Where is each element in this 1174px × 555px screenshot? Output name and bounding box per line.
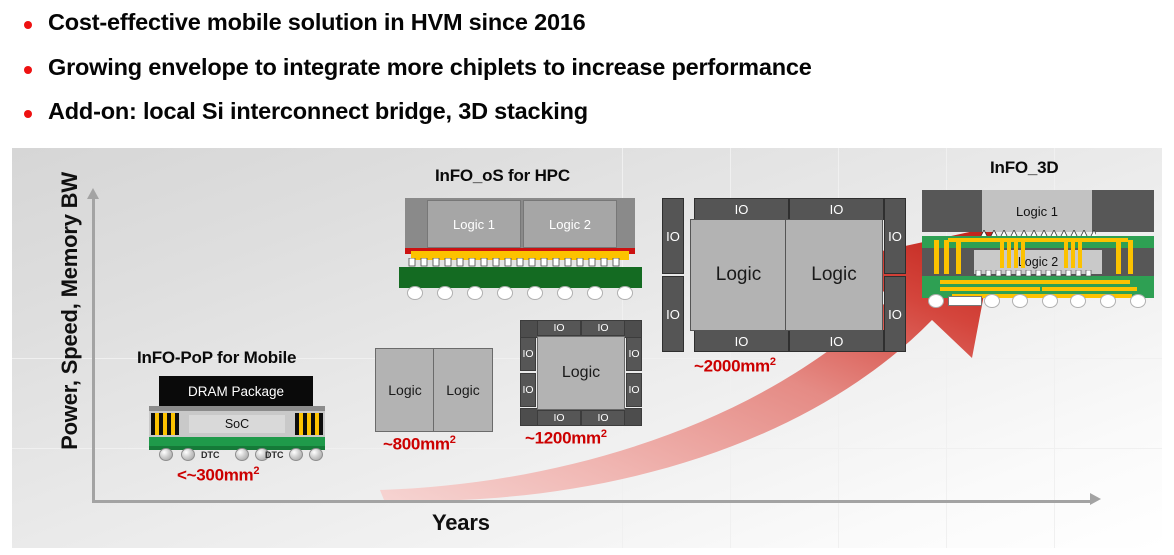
logic1-die: Logic 1	[982, 190, 1092, 232]
logic-die-right: Logic	[785, 219, 883, 331]
io-chiplet-left-top: IO	[520, 337, 536, 371]
tiv-bar	[155, 413, 159, 435]
bullet-item: Growing envelope to integrate more chipl…	[24, 55, 812, 80]
io-chiplet-right-bottom: IO	[626, 373, 642, 407]
solder-ball	[235, 448, 249, 461]
package-info-3d: InFO_3D Logic 1 Logic 2	[912, 158, 1162, 303]
mold-compound-right	[1092, 190, 1154, 232]
io-chiplet-top-left: IO	[537, 320, 581, 336]
io-chiplet-bottom-right: IO	[581, 410, 625, 426]
io-corner	[624, 320, 642, 338]
io-chiplet-top-right: IO	[789, 198, 884, 220]
tiv-bar	[299, 413, 303, 435]
solder-ball	[984, 294, 1000, 308]
via-bar	[1021, 240, 1025, 268]
solder-ball	[437, 286, 453, 300]
solder-ball	[309, 448, 323, 461]
rdl-trace	[948, 238, 1128, 242]
package-info-os: InFO_oS for HPC Logic 1 Logic 2	[397, 166, 642, 286]
solder-ball	[1070, 294, 1086, 308]
solder-ball	[1130, 294, 1146, 308]
solder-ball	[467, 286, 483, 300]
solder-ball	[181, 448, 195, 461]
solder-ball	[527, 286, 543, 300]
via-bar	[1064, 240, 1068, 268]
io-chiplet-bottom-left: IO	[537, 410, 581, 426]
dtc-label: DTC	[201, 450, 220, 460]
io-corner	[520, 320, 538, 338]
mold-compound-left	[922, 190, 982, 232]
io-chiplet-left-bottom: IO	[662, 276, 684, 352]
rdl-trace	[940, 280, 1130, 284]
io-chiplet-left-top: IO	[662, 198, 684, 274]
logic-die-right: Logic	[433, 348, 493, 432]
info-3d-title: InFO_3D	[990, 158, 1059, 178]
io-chiplet-right-bottom: IO	[884, 276, 906, 352]
tiv-bar	[163, 413, 167, 435]
io-chiplet-right-top: IO	[626, 337, 642, 371]
area-label-1200: ~1200mm2	[525, 428, 607, 449]
solder-ball	[928, 294, 944, 308]
y-axis-label: Power, Speed, Memory BW	[57, 161, 83, 461]
solder-ball	[159, 448, 173, 461]
tiv-bar	[315, 413, 319, 435]
y-axis-arrow-icon	[87, 188, 99, 199]
info-pop-area-label: <~300mm2	[177, 465, 259, 486]
si-bridge-block	[948, 296, 982, 306]
bullet-item: Cost-effective mobile solution in HVM si…	[24, 10, 586, 35]
bullet-list: Cost-effective mobile solution in HVM si…	[0, 0, 1174, 146]
solder-ball	[587, 286, 603, 300]
os-organic-substrate	[399, 267, 642, 288]
package-info-pop: InFO-PoP for Mobile DRAM Package SoC DTC…	[137, 348, 337, 468]
logic2-die: Logic 2	[523, 200, 617, 248]
io-chiplet-top-left: IO	[694, 198, 789, 220]
roadmap-diagram-panel: Power, Speed, Memory BW Years InFO-PoP f…	[12, 148, 1162, 548]
x-axis-arrow-icon	[1090, 493, 1101, 505]
logic-die-left: Logic	[375, 348, 435, 432]
via-bar	[1014, 240, 1018, 268]
bullet-item: Add-on: local Si interconnect bridge, 3D…	[24, 99, 588, 124]
solder-ball	[617, 286, 633, 300]
bullet-dot-icon	[24, 21, 32, 29]
y-axis-line	[92, 196, 95, 503]
solder-ball	[407, 286, 423, 300]
io-chiplet-right-top: IO	[884, 198, 906, 274]
bullet-dot-icon	[24, 110, 32, 118]
tiv-bar	[934, 240, 939, 274]
tiv-bar	[1116, 240, 1121, 274]
bullet-text: Add-on: local Si interconnect bridge, 3D…	[48, 99, 588, 124]
logic-die-left: Logic	[690, 219, 787, 331]
rdl-trace	[940, 287, 1040, 291]
rdl-trace	[1042, 287, 1137, 291]
io-corner	[520, 408, 538, 426]
via-bar	[1078, 240, 1082, 268]
io-chiplet-bottom-left: IO	[694, 330, 789, 352]
tiv-bar	[307, 413, 311, 435]
soc-die-block: SoC	[189, 415, 285, 433]
tiv-bar	[956, 240, 961, 274]
bullet-text: Growing envelope to integrate more chipl…	[48, 55, 812, 80]
tiv-bar	[171, 413, 175, 435]
io-corner	[624, 408, 642, 426]
bullet-dot-icon	[24, 66, 32, 74]
x-axis-label: Years	[432, 510, 490, 536]
info-pop-title: InFO-PoP for Mobile	[137, 348, 296, 368]
tiv-bar	[944, 240, 949, 274]
io-chiplet-left-bottom: IO	[520, 373, 536, 407]
solder-ball	[1042, 294, 1058, 308]
dram-package-block: DRAM Package	[159, 376, 313, 406]
io-chiplet-top-right: IO	[581, 320, 625, 336]
solder-ball	[497, 286, 513, 300]
via-bar	[1007, 240, 1011, 268]
area-label-2000: ~2000mm2	[694, 356, 776, 377]
solder-ball	[1100, 294, 1116, 308]
solder-ball	[1012, 294, 1028, 308]
info-os-title: InFO_oS for HPC	[435, 166, 570, 186]
solder-ball	[289, 448, 303, 461]
io-chiplet-bottom-right: IO	[789, 330, 884, 352]
pop-substrate-layer	[149, 437, 325, 446]
via-bar	[1071, 240, 1075, 268]
solder-ball	[557, 286, 573, 300]
area-label-800: ~800mm2	[383, 434, 456, 455]
dtc-label: DTC	[265, 450, 284, 460]
logic-die-center: Logic	[537, 336, 625, 410]
microbump-row-bottom	[974, 270, 1102, 278]
logic1-die: Logic 1	[427, 200, 521, 248]
via-bar	[1000, 240, 1004, 268]
tiv-bar	[1128, 240, 1133, 274]
x-axis-line	[92, 500, 1092, 503]
bullet-text: Cost-effective mobile solution in HVM si…	[48, 10, 586, 35]
